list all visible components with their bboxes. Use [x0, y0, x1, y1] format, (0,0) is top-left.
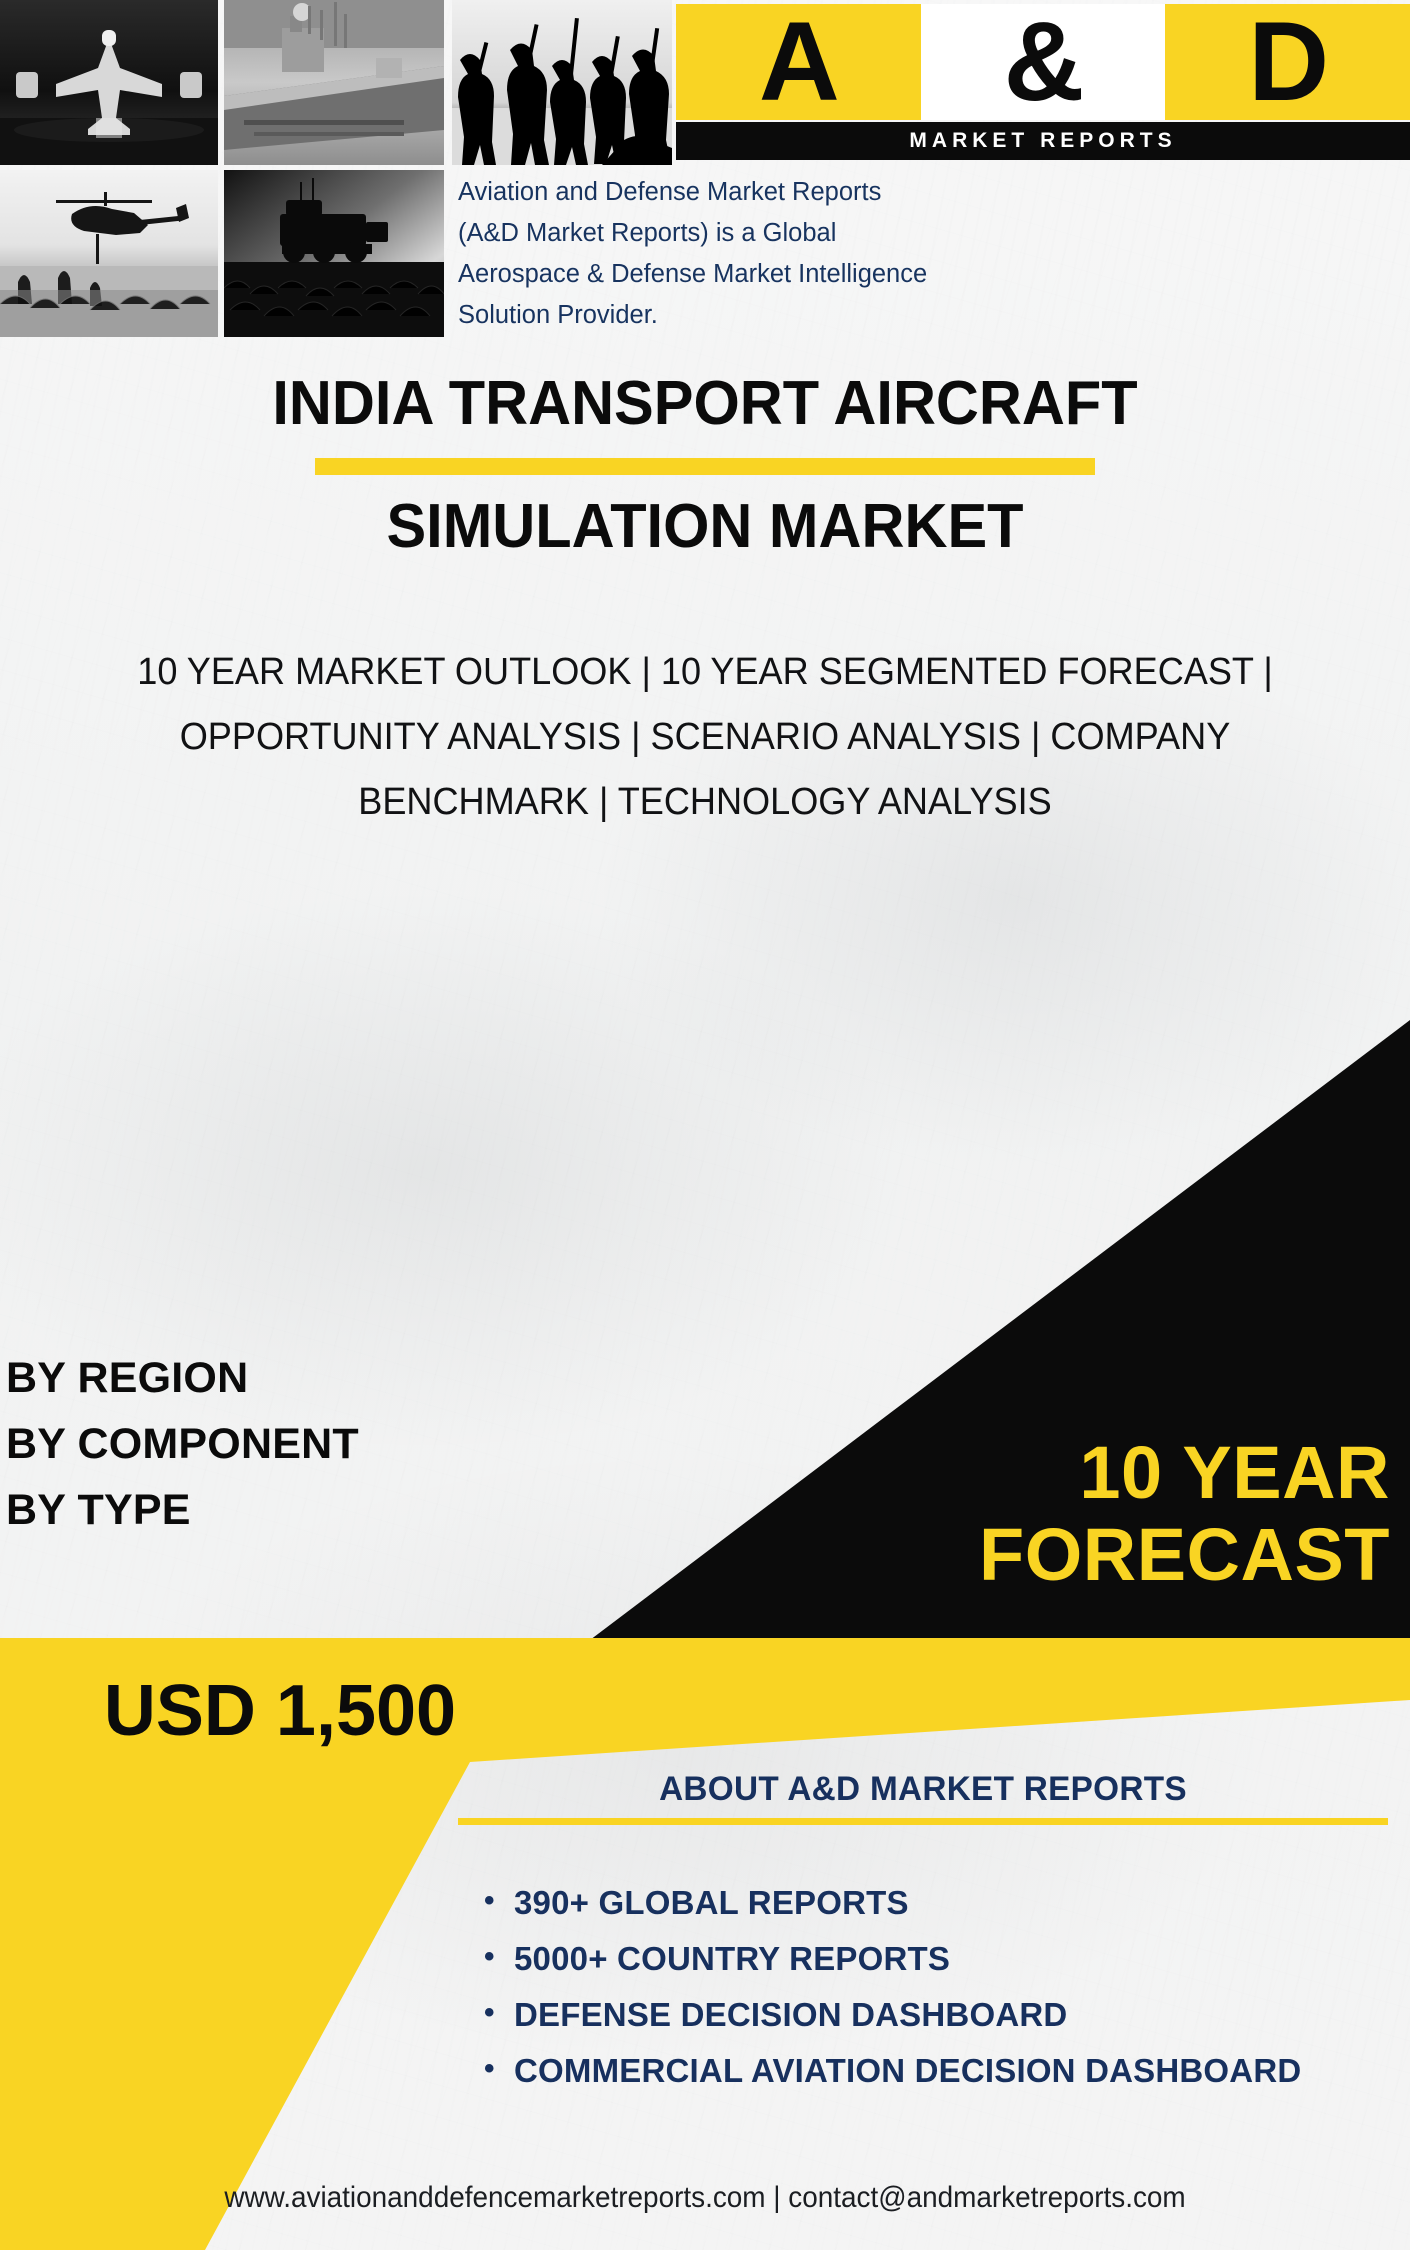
brand-logo: A & D MARKET REPORTS	[676, 0, 1410, 160]
segment-item-type: BY TYPE	[6, 1477, 626, 1543]
about-heading: ABOUT A&D MARKET REPORTS	[467, 1768, 1378, 1810]
logo-letter-ampersand: &	[921, 4, 1166, 120]
report-title-line-2: SIMULATION MARKET	[28, 491, 1382, 563]
about-section: ABOUT A&D MARKET REPORTS 390+ GLOBAL REP…	[458, 1768, 1388, 2105]
intro-line-1: Aviation and Defense Market Reports	[458, 172, 980, 213]
logo-tagline-bar: MARKET REPORTS	[676, 122, 1410, 160]
about-bullet-list: 390+ GLOBAL REPORTS 5000+ COUNTRY REPORT…	[458, 1881, 1388, 2093]
soldiers-silhouette-photo	[452, 0, 672, 165]
intro-line-4: Solution Provider.	[458, 295, 980, 336]
segment-item-component: BY COMPONENT	[6, 1411, 626, 1477]
helicopter-photo	[0, 170, 218, 337]
fighter-jet-photo	[0, 0, 218, 165]
about-bullet-commercial-dashboard: COMMERCIAL AVIATION DECISION DASHBOARD	[514, 2049, 1388, 2093]
intro-line-2: (A&D Market Reports) is a Global	[458, 213, 980, 254]
report-subtitle: 10 YEAR MARKET OUTLOOK | 10 YEAR SEGMENT…	[69, 640, 1342, 835]
forecast-callout: 10 YEAR FORECAST	[600, 1432, 1390, 1596]
company-intro-paragraph: Aviation and Defense Market Reports (A&D…	[458, 172, 980, 336]
forecast-line-1: 10 YEAR	[600, 1432, 1390, 1514]
about-bullet-defense-dashboard: DEFENSE DECISION DASHBOARD	[514, 1993, 1388, 2037]
about-bullet-global-reports: 390+ GLOBAL REPORTS	[514, 1881, 1388, 1925]
footer-contact: www.aviationanddefencemarketreports.com …	[49, 2178, 1360, 2218]
forecast-line-2: FORECAST	[600, 1514, 1390, 1596]
segment-item-region: BY REGION	[6, 1345, 626, 1411]
about-yellow-rule	[458, 1818, 1388, 1825]
about-bullet-country-reports: 5000+ COUNTRY REPORTS	[514, 1937, 1388, 1981]
intro-line-3: Aerospace & Defense Market Intelligence	[458, 254, 980, 295]
logo-letter-a: A	[676, 4, 921, 120]
logo-letter-d: D	[1165, 4, 1410, 120]
armored-vehicle-photo	[224, 170, 444, 337]
logo-tagline: MARKET REPORTS	[909, 129, 1176, 153]
poster-root: A & D MARKET REPORTS Aviation and Defens…	[0, 0, 1410, 2250]
price-value: USD 1,500	[0, 1672, 560, 1750]
aircraft-carrier-photo	[224, 0, 444, 165]
segmentation-list: BY REGION BY COMPONENT BY TYPE	[6, 1345, 626, 1543]
title-yellow-rule	[315, 458, 1095, 475]
report-title: INDIA TRANSPORT AIRCRAFT SIMULATION MARK…	[0, 368, 1410, 563]
logo-letters-row: A & D	[676, 4, 1410, 120]
report-title-line-1: INDIA TRANSPORT AIRCRAFT	[28, 368, 1382, 440]
